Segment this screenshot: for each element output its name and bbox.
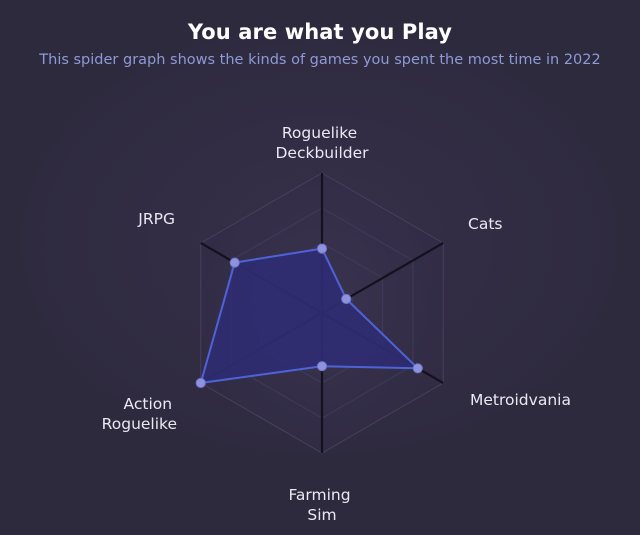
- data-point-roguelike-deckbuilder[interactable]: [317, 244, 326, 253]
- axis-label-farming-sim: Farming Sim: [288, 486, 355, 524]
- radar-chart-container: Roguelike Deckbuilder Cats Metroidvania …: [0, 90, 640, 535]
- axis-label-cats: Cats: [468, 215, 502, 233]
- data-point-farming-sim[interactable]: [317, 362, 326, 371]
- spider-chart-page: You are what you Play This spider graph …: [0, 0, 640, 535]
- radar-chart-svg: Roguelike Deckbuilder Cats Metroidvania …: [0, 90, 640, 535]
- axis-label-metroidvania: Metroidvania: [470, 391, 571, 409]
- data-point-action-roguelike[interactable]: [196, 378, 205, 387]
- data-point-metroidvania[interactable]: [413, 364, 422, 373]
- page-subtitle: This spider graph shows the kinds of gam…: [0, 50, 640, 70]
- axis-label-jrpg: JRPG: [137, 210, 175, 228]
- data-point-jrpg[interactable]: [230, 258, 239, 267]
- data-point-cats[interactable]: [342, 294, 351, 303]
- page-title: You are what you Play: [0, 18, 640, 46]
- axis-label-action-roguelike: Action Roguelike: [102, 395, 177, 433]
- axis-label-roguelike-deckbuilder: Roguelike Deckbuilder: [276, 124, 370, 162]
- chart-header: You are what you Play This spider graph …: [0, 0, 640, 70]
